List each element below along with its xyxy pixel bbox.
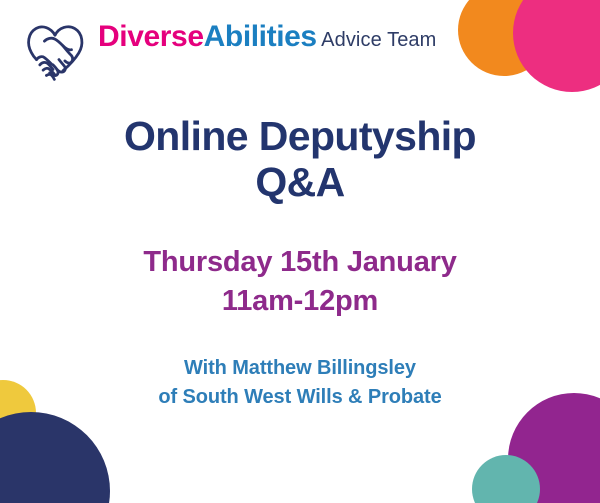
brand-logo: DiverseAbilities Advice Team: [22, 20, 436, 84]
navy-circle-bottom-left: [0, 412, 110, 503]
speaker-organisation: of South West Wills & Probate: [0, 383, 600, 412]
headline-line-2: Q&A: [0, 160, 600, 206]
logo-text-lockup: DiverseAbilities Advice Team: [98, 20, 436, 53]
event-datetime: Thursday 15th January 11am-12pm: [0, 206, 600, 321]
event-date: Thursday 15th January: [0, 243, 600, 282]
event-speaker: With Matthew Billingsley of South West W…: [0, 321, 600, 412]
logo-word-diverse: Diverse: [98, 20, 204, 53]
event-time: 11am-12pm: [0, 282, 600, 321]
logo-tagline: Advice Team: [321, 29, 436, 51]
headline-line-1: Online Deputyship: [124, 113, 476, 159]
event-poster: DiverseAbilities Advice Team Online Depu…: [0, 0, 600, 503]
speaker-name: With Matthew Billingsley: [0, 354, 600, 383]
logo-wordmark: DiverseAbilities: [98, 20, 317, 53]
logo-word-abilities: Abilities: [204, 20, 317, 53]
handshake-heart-icon: [22, 22, 88, 84]
